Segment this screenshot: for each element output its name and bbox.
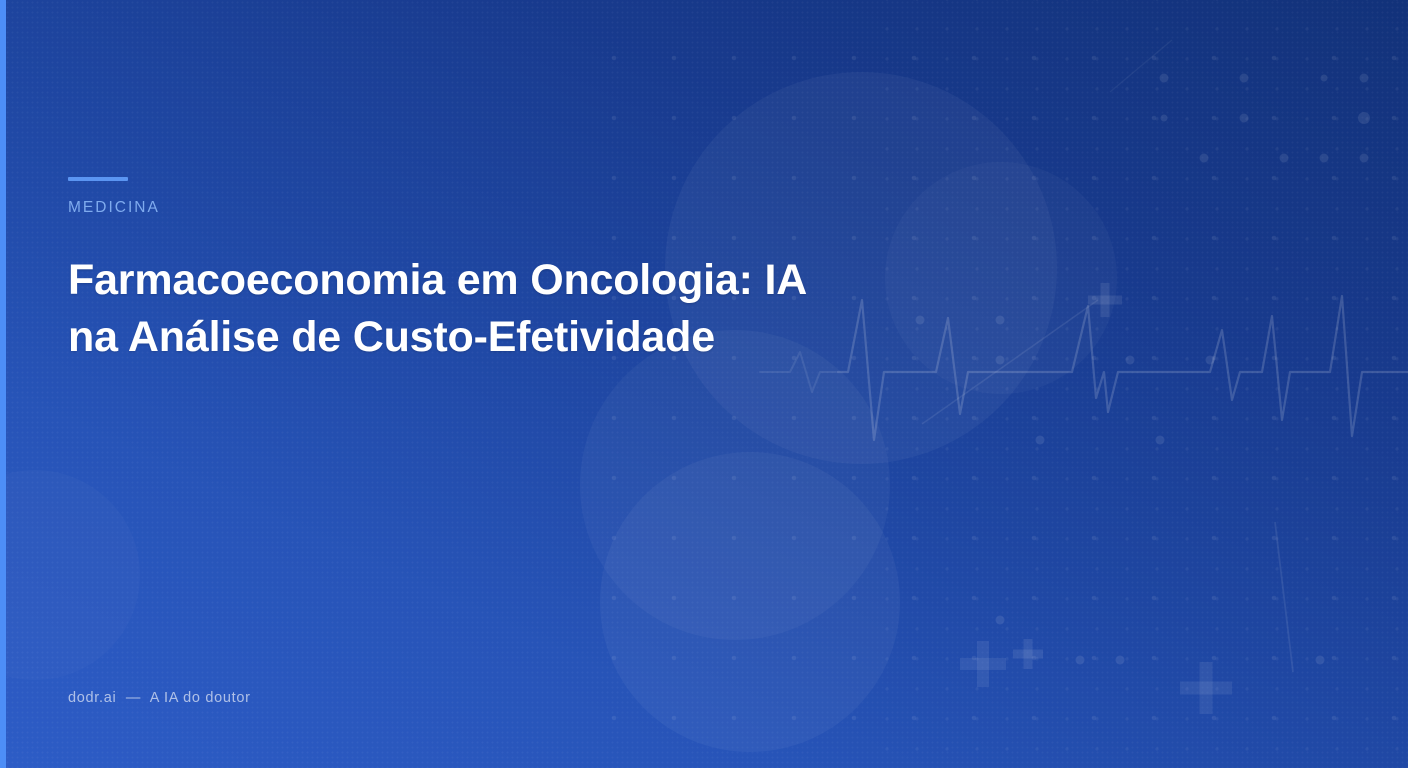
- diagonal-accent-line: [922, 300, 1098, 424]
- medical-cross-icon: [1180, 662, 1232, 714]
- medical-cross-icon: [1088, 283, 1122, 317]
- category-label: MEDICINA: [68, 199, 160, 217]
- diagonal-accent-line: [1275, 522, 1293, 672]
- presentation-card: MEDICINA Farmacoeconomia em Oncologia: I…: [0, 0, 1408, 768]
- category-rule: [68, 177, 128, 181]
- accent-dot-cluster: [916, 74, 1371, 665]
- page-title: Farmacoeconomia em Oncologia: IA na Anál…: [68, 252, 858, 366]
- diagonal-accent-line: [1110, 40, 1172, 92]
- dot-grid-pattern-fine: [860, 0, 1408, 768]
- decorative-circle: [885, 162, 1117, 394]
- left-edge-accent-bar: [0, 0, 6, 768]
- medical-cross-icon: [960, 641, 1006, 687]
- medical-cross-icon: [1013, 639, 1043, 669]
- card-content: MEDICINA Farmacoeconomia em Oncologia: I…: [68, 0, 888, 768]
- footer-brand-tagline: dodr.ai — A IA do doutor: [68, 690, 251, 706]
